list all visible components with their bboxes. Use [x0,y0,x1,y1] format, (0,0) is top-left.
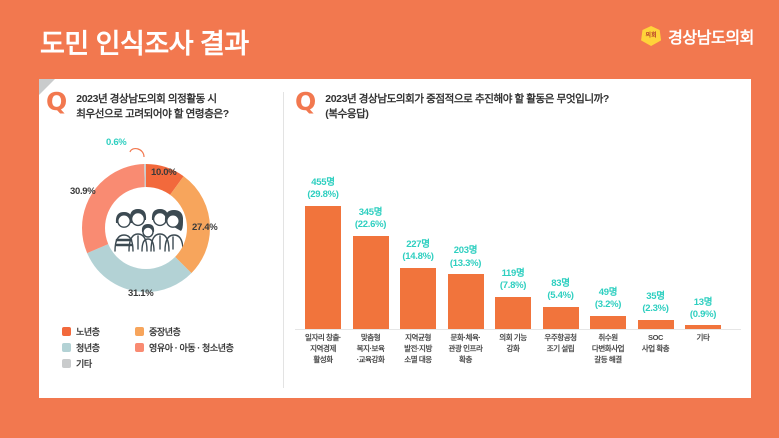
bar-value-label: 455명(29.8%) [307,177,338,202]
etc-leader-line-icon [130,149,144,157]
bar-count-label: 345명 [355,207,386,219]
bar-column[interactable]: 119명(7.8%) [490,257,536,329]
bar-value-label: 203명(13.3%) [450,245,481,270]
bar-count-label: 455명 [307,177,338,189]
bar-count-label: 13명 [690,297,716,309]
org-logo-text: 경상남도의회 [668,24,754,48]
bar-column[interactable]: 203명(13.3%) [443,234,489,329]
bar-value-label: 119명(7.8%) [500,268,526,293]
bar-value-label: 227명(14.8%) [402,239,433,264]
bar-rect[interactable] [448,274,484,329]
bar-category-label: 기타 [674,333,732,344]
family-illustration-icon [105,187,187,269]
legend-item-etc: 기타 [62,357,135,370]
bar-category-line: 사업 확충 [627,344,685,355]
bar-rect[interactable] [638,320,674,329]
donut-label-middle-age: 10.0% [151,167,176,178]
infographic-root: 도민 인식조사 결과 의회 경상남도의회 Q 2023년 경상남도의회 의정활동… [0,0,779,438]
legend-label-youth: 청년층 [76,341,100,354]
bar-rect[interactable] [543,307,579,329]
right-question-line-2: (복수응답) [325,107,609,122]
panel-divider [283,92,284,388]
family-figures-svg [109,201,183,255]
bar-percent-label: (3.2%) [595,299,621,311]
legend-item-children: 영유아 · 아동 · 청소년층 [135,341,234,354]
legend-swatch-etc-icon [62,359,71,368]
bar-value-label: 49명(3.2%) [595,287,621,312]
bar-column[interactable]: 49명(3.2%) [585,276,631,329]
bar-column[interactable]: 227명(14.8%) [395,228,441,329]
donut-label-youth: 31.1% [128,288,153,299]
bar-value-label: 35명(2.3%) [642,291,668,316]
legend-swatch-senior-icon [62,327,71,336]
bar-count-label: 119명 [500,268,526,280]
assembly-emblem-icon: 의회 [641,26,661,46]
bar-column[interactable]: 13명(0.9%) [680,285,726,329]
legend-label-children: 영유아 · 아동 · 청소년층 [149,341,234,354]
legend-swatch-children-icon [135,343,144,352]
bar-column[interactable]: 83명(5.4%) [538,267,584,329]
left-question-line-2: 최우선으로 고려되어야 할 연령층은? [76,107,228,122]
legend-swatch-youth-icon [62,343,71,352]
donut-label-senior: 30.9% [70,186,95,197]
emblem-label: 의회 [646,33,657,39]
legend-label-etc: 기타 [76,357,92,370]
chart-baseline [295,329,741,330]
bar-category-line: 갈등 해결 [579,355,637,366]
bar-column[interactable]: 35명(2.3%) [633,280,679,329]
bar-column[interactable]: 455명(29.8%) [300,166,346,329]
bar-count-label: 49명 [595,287,621,299]
bar-rect[interactable] [400,268,436,329]
question-mark-icon: Q [46,89,67,114]
bar-column[interactable]: 345명(22.6%) [348,196,394,329]
right-panel-question: Q 2023년 경상남도의회가 중점적으로 추진해야 할 활동은 무엇입니까? … [295,92,745,122]
bar-percent-label: (2.3%) [642,303,668,315]
priority-activities-bar-chart: 455명(29.8%)일자리 창출·지역경제활성화345명(22.6%)맞춤형복… [295,140,745,388]
question-mark-icon-right: Q [295,89,316,114]
donut-label-etc: 0.6% [106,137,126,148]
bar-value-label: 83명(5.4%) [547,278,573,303]
org-logo: 의회 경상남도의회 [641,24,754,48]
right-question-line-1: 2023년 경상남도의회가 중점적으로 추진해야 할 활동은 무엇입니까? [325,92,609,107]
page-title: 도민 인식조사 결과 [40,22,249,61]
legend-item-senior: 노년층 [62,325,135,338]
bar-percent-label: (14.8%) [402,251,433,263]
donut-legend: 노년층 중장년층 청년층 영유아 · 아동 · 청소년층 기타 [62,325,267,373]
page-header: 도민 인식조사 결과 의회 경상남도의회 [0,0,779,80]
bar-percent-label: (22.6%) [355,219,386,231]
bar-count-label: 203명 [450,245,481,257]
bar-count-label: 35명 [642,291,668,303]
bar-rect[interactable] [353,236,389,329]
right-accent-bar [751,79,779,398]
bar-value-label: 13명(0.9%) [690,297,716,322]
bar-percent-label: (5.4%) [547,290,573,302]
bar-count-label: 227명 [402,239,433,251]
legend-item-middle-age: 중장년층 [135,325,181,338]
bar-rect[interactable] [590,316,626,329]
legend-label-middle-age: 중장년층 [149,325,181,338]
bar-rect[interactable] [495,297,531,329]
bar-category-line: 확충 [437,355,495,366]
bar-rect[interactable] [685,325,721,329]
left-question-line-1: 2023년 경상남도의회 의정활동 시 [76,92,228,107]
bar-count-label: 83명 [547,278,573,290]
bar-percent-label: (29.8%) [307,189,338,201]
legend-item-youth: 청년층 [62,341,135,354]
bar-percent-label: (7.8%) [500,280,526,292]
bar-value-label: 345명(22.6%) [355,207,386,232]
legend-label-senior: 노년층 [76,325,100,338]
donut-label-children: 27.4% [192,222,217,233]
age-group-donut-chart: 10.0% 27.4% 31.1% 30.9% 0.6% [60,142,232,314]
legend-swatch-middle-age-icon [135,327,144,336]
bar-percent-label: (13.3%) [450,258,481,270]
bar-rect[interactable] [305,206,341,329]
bar-percent-label: (0.9%) [690,309,716,321]
bar-category-line: 기타 [674,333,732,344]
left-panel-question: Q 2023년 경상남도의회 의정활동 시 최우선으로 고려되어야 할 연령층은… [46,92,274,122]
